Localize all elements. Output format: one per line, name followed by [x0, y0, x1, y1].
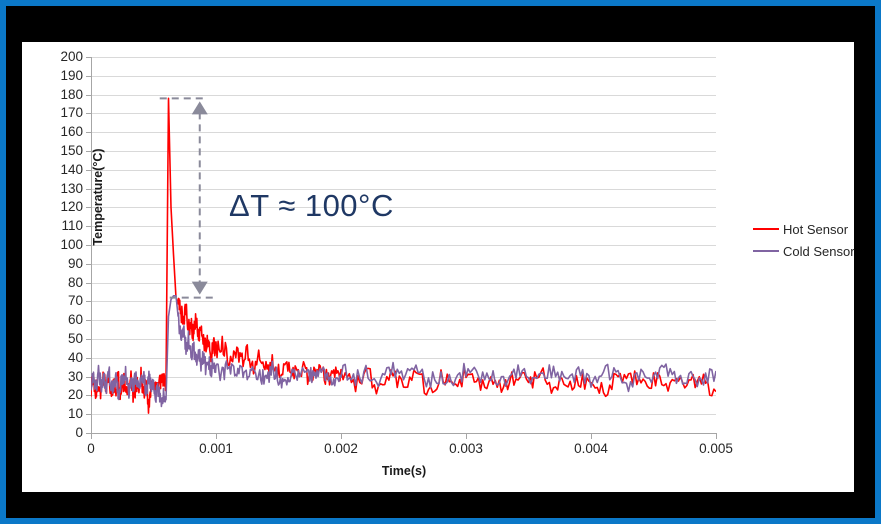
- y-tick-label: 170: [41, 106, 83, 120]
- y-tick-label: 60: [41, 313, 83, 327]
- x-tick-label: 0.005: [676, 442, 756, 456]
- legend-item-cold-sensor: Cold Sensor: [753, 240, 873, 262]
- x-tick-label: 0.002: [301, 442, 381, 456]
- legend-label-cold-sensor: Cold Sensor: [783, 244, 855, 259]
- y-tick-label: 70: [41, 294, 83, 308]
- chart-legend: Hot Sensor Cold Sensor: [753, 218, 873, 262]
- x-tick: [91, 434, 92, 439]
- figure-root: 0102030405060708090100110120130140150160…: [0, 0, 881, 524]
- chart-card: 0102030405060708090100110120130140150160…: [22, 42, 854, 492]
- y-tick-label: 0: [41, 426, 83, 440]
- y-tick-label: 200: [41, 50, 83, 64]
- y-axis-title: Temperature(°C): [91, 117, 105, 277]
- y-tick-label: 80: [41, 276, 83, 290]
- y-tick-label: 20: [41, 388, 83, 402]
- x-tick-label: 0.003: [426, 442, 506, 456]
- y-tick-label: 120: [41, 200, 83, 214]
- x-axis-title: Time(s): [91, 464, 717, 478]
- x-tick-label: 0: [51, 442, 131, 456]
- y-tick-label: 90: [41, 257, 83, 271]
- legend-item-hot-sensor: Hot Sensor: [753, 218, 873, 240]
- delta-t-arrow-annotation: [91, 57, 716, 433]
- delta-t-annotation-text: ΔT ≈ 100°C: [229, 188, 394, 224]
- legend-swatch-cold-sensor: [753, 250, 779, 253]
- arrow-head-down: [192, 282, 208, 295]
- y-tick-label: 130: [41, 182, 83, 196]
- y-tick-label: 180: [41, 88, 83, 102]
- x-tick: [716, 434, 717, 439]
- y-tick-label: 150: [41, 144, 83, 158]
- x-tick: [216, 434, 217, 439]
- y-tick-label: 40: [41, 351, 83, 365]
- y-tick-label: 160: [41, 125, 83, 139]
- y-tick-label: 140: [41, 163, 83, 177]
- x-tick-label: 0.001: [176, 442, 256, 456]
- x-tick: [591, 434, 592, 439]
- plot-area: [91, 57, 716, 433]
- y-tick-label: 110: [41, 219, 83, 233]
- x-axis-line: [91, 433, 717, 434]
- x-tick: [341, 434, 342, 439]
- legend-label-hot-sensor: Hot Sensor: [783, 222, 848, 237]
- legend-swatch-hot-sensor: [753, 228, 779, 231]
- y-tick-label: 190: [41, 69, 83, 83]
- y-tick-label: 100: [41, 238, 83, 252]
- y-tick-label: 30: [41, 370, 83, 384]
- x-tick-label: 0.004: [551, 442, 631, 456]
- y-tick-label: 50: [41, 332, 83, 346]
- y-tick-label: 10: [41, 407, 83, 421]
- x-tick: [466, 434, 467, 439]
- arrow-head-up: [192, 101, 208, 114]
